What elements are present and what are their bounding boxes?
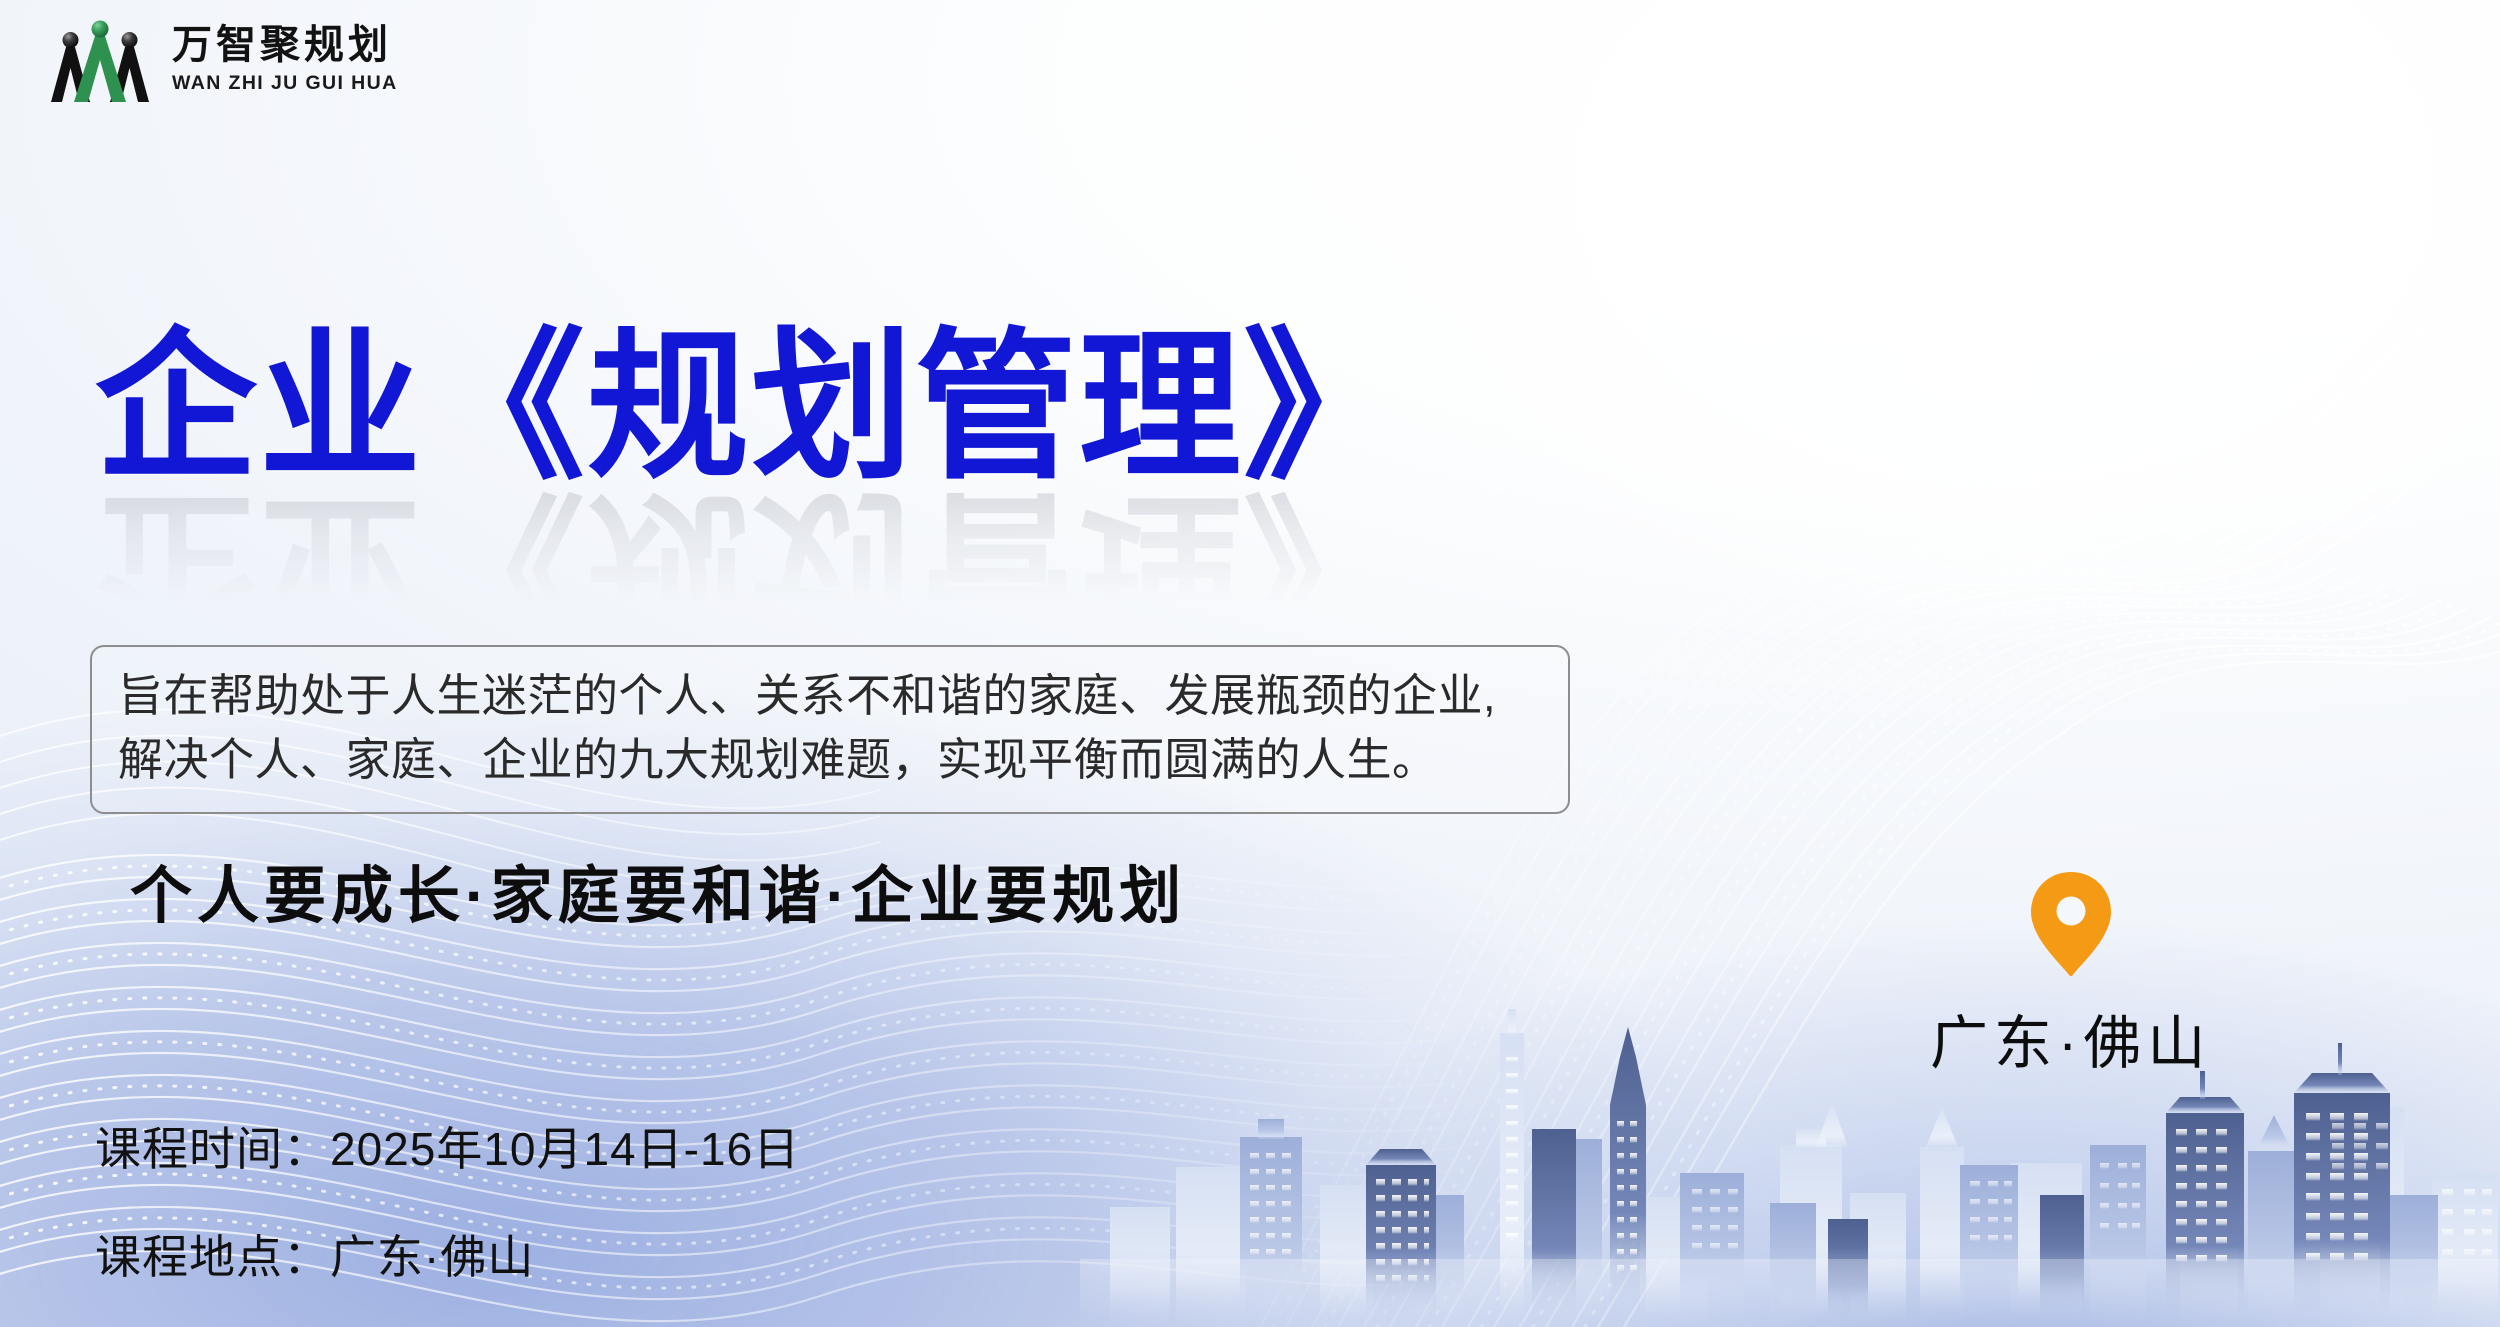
course-info: 课程时间：2025年10月14日-16日 课程地点：广东·佛山 (95, 1113, 800, 1287)
poster-canvas: 万智聚规划 WAN ZHI JU GUI HUA 企业《规划管理》 企业《规划管… (0, 0, 2500, 1327)
location-badge: 广东·佛山 (1930, 868, 2211, 1080)
slogan-text: 个人要成长·家庭要和谐·企业要规划 (130, 845, 1186, 935)
logo-wordmark: 万智聚规划 WAN ZHI JU GUI HUA (172, 23, 398, 94)
course-time-row: 课程时间：2025年10月14日-16日 (95, 1113, 800, 1179)
hero-title-block: 企业《规划管理》 企业《规划管理》 (95, 322, 1407, 649)
page-title-reflection: 企业《规划管理》 (95, 478, 1407, 650)
city-skyline-silhouette-icon (1080, 997, 2500, 1327)
description-line-2: 解决个人、家庭、企业的九大规划难题，实现平衡而圆满的人生。 (118, 728, 1542, 792)
location-badge-label: 广东·佛山 (1930, 996, 2211, 1080)
description-box: 旨在帮助处于人生迷茫的个人、关系不和谐的家庭、发展瓶颈的企业, 解决个人、家庭、… (90, 645, 1570, 814)
brand-logo: 万智聚规划 WAN ZHI JU GUI HUA (46, 16, 398, 102)
description-line-1: 旨在帮助处于人生迷茫的个人、关系不和谐的家庭、发展瓶颈的企业, (118, 664, 1542, 728)
logo-company-pinyin: WAN ZHI JU GUI HUA (172, 72, 398, 95)
course-place-row: 课程地点：广东·佛山 (95, 1221, 800, 1287)
page-title: 企业《规划管理》 (95, 322, 1407, 494)
logo-company-name-cn: 万智聚规划 (172, 23, 398, 66)
map-pin-icon (2025, 868, 2117, 980)
three-people-logo-icon (46, 16, 154, 102)
